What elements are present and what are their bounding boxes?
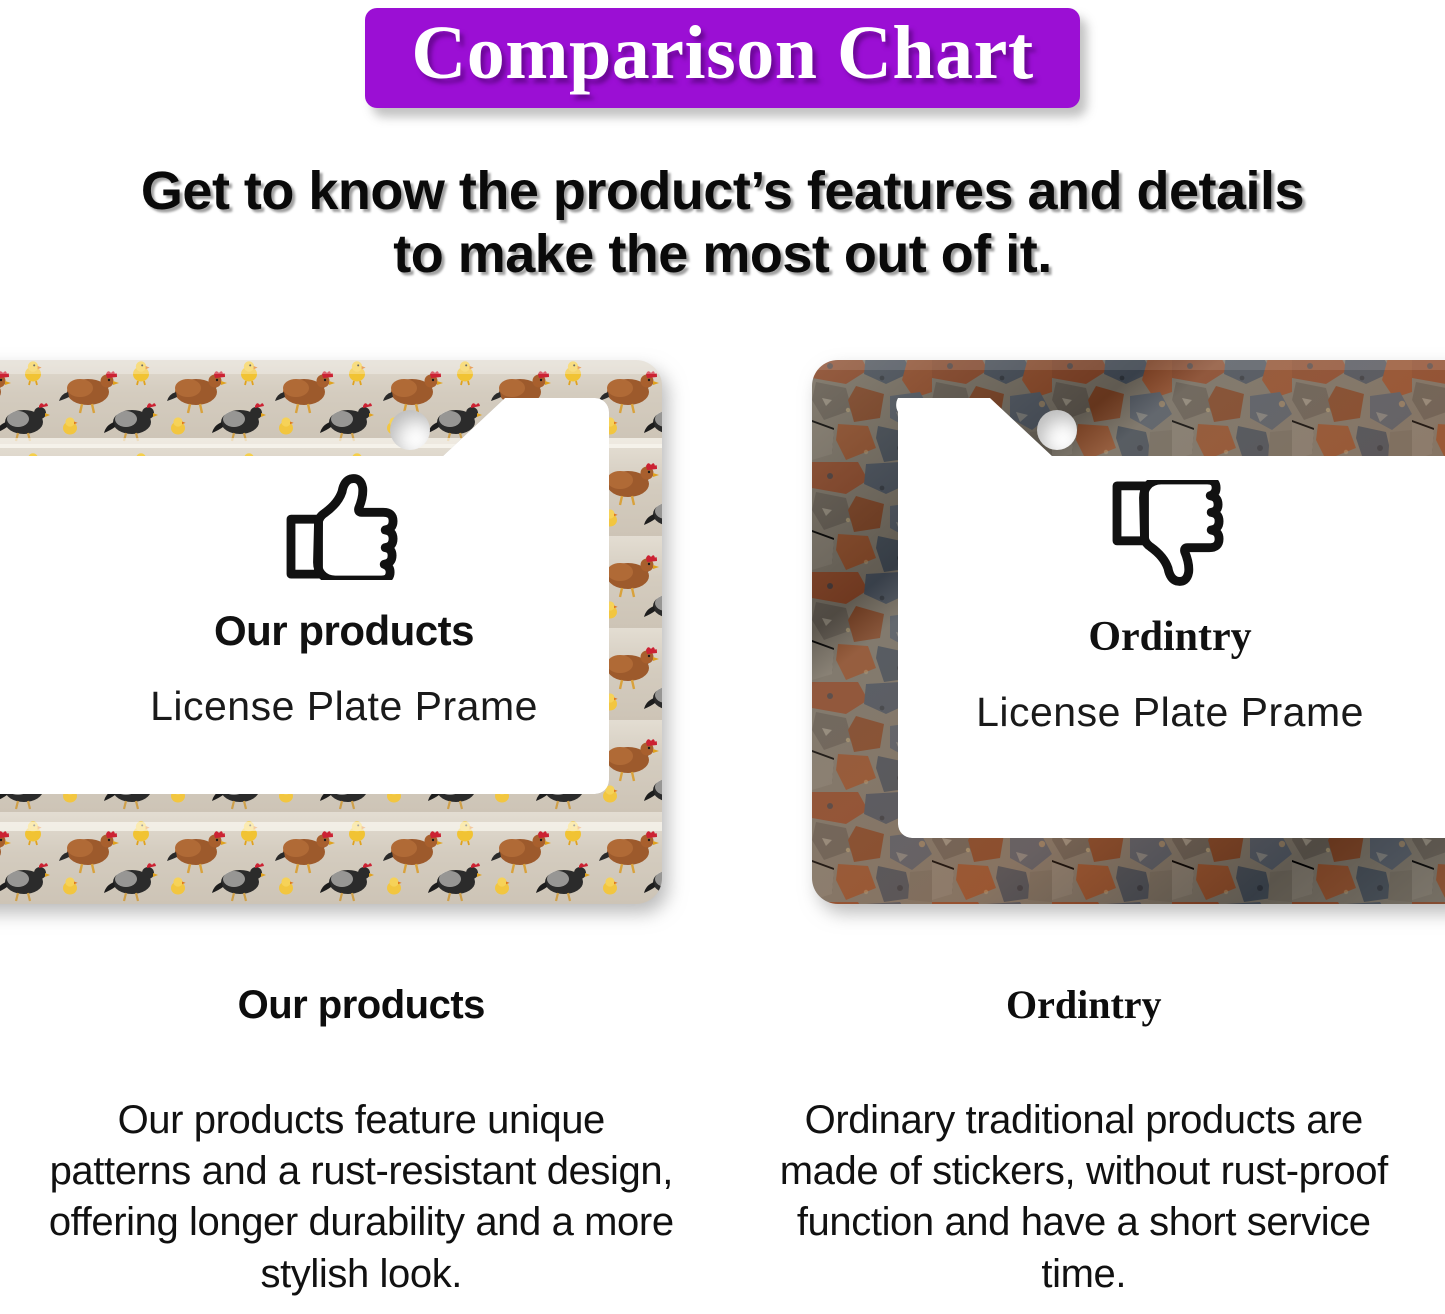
page-subtitle: Get to know the product’s features and d…: [0, 160, 1445, 286]
comparison-chart-page: Comparison Chart Get to know the product…: [0, 0, 1445, 1314]
rust-texture-frame-art: [812, 352, 1445, 912]
ordinary-description-column: Ordintry Ordinary traditional products a…: [723, 985, 1445, 1314]
description-columns: Our products Our products feature unique…: [0, 985, 1445, 1314]
product-frame-ours: [0, 352, 688, 912]
title-banner-container: Comparison Chart: [0, 8, 1445, 108]
ours-column-heading: Our products: [46, 985, 677, 1025]
ours-description-column: Our products Our products feature unique…: [0, 985, 723, 1314]
ordinary-column-heading: Ordintry: [769, 985, 1400, 1025]
chicken-pattern-frame-art: [0, 352, 688, 912]
ours-column-body: Our products feature unique patterns and…: [46, 1095, 677, 1300]
title-banner: Comparison Chart: [365, 8, 1079, 108]
ordinary-column-body: Ordinary traditional products are made o…: [769, 1095, 1400, 1300]
product-frames-row: Our products License Plate Prame Ordintr…: [0, 352, 1445, 922]
page-title: Comparison Chart: [411, 14, 1033, 94]
product-frame-ordinary: [812, 352, 1445, 912]
